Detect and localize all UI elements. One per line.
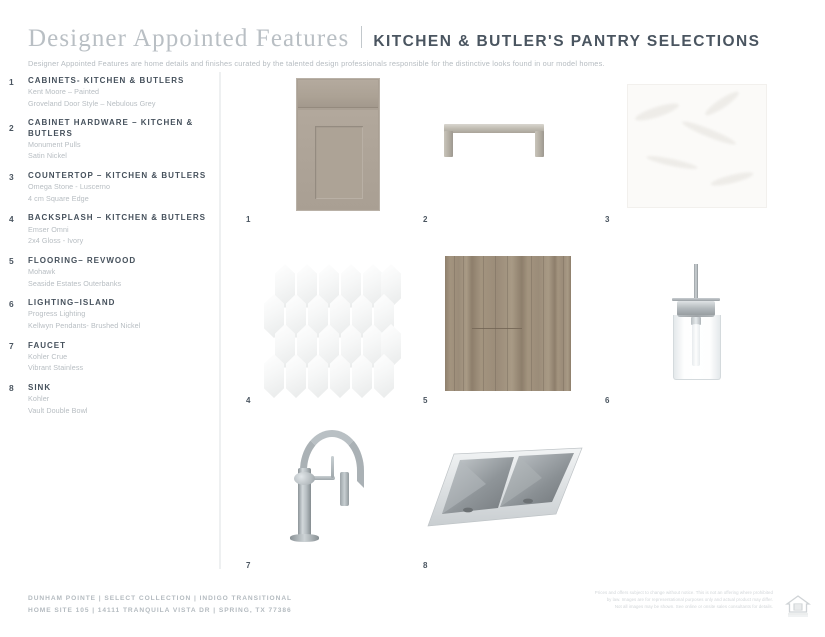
spec-item-countertop[interactable]: 3 COUNTERTOP – KITCHEN & BUTLERS Omega S…: [0, 171, 210, 204]
quartz-vein: [634, 100, 681, 124]
product-cell-2[interactable]: 2: [416, 76, 596, 226]
spec-title: BACKSPLASH – KITCHEN & BUTLERS: [28, 213, 210, 223]
door-drawer-front: [298, 80, 378, 108]
quartz-vein: [710, 170, 755, 188]
product-number-6: 6: [605, 396, 610, 405]
spec-title: COUNTERTOP – KITCHEN & BUTLERS: [28, 171, 210, 181]
wood-grain: [543, 256, 544, 391]
spec-item-backsplash[interactable]: 4 BACKSPLASH – KITCHEN & BUTLERS Emser O…: [0, 213, 210, 246]
spec-detail-line-1: Kent Moore – Painted: [28, 87, 210, 98]
product-number-7: 7: [246, 561, 251, 570]
spec-detail-line-2: Kellwyn Pendants- Brushed Nickel: [28, 321, 210, 332]
spec-title: LIGHTING–ISLAND: [28, 298, 210, 308]
spec-number: 5: [9, 256, 28, 289]
pull-right-post: [535, 131, 544, 157]
spec-title: CABINET HARDWARE – KITCHEN & BUTLERS: [28, 118, 210, 138]
faucet-base-plate: [290, 534, 319, 542]
product-cell-5[interactable]: 5: [416, 256, 596, 411]
wood-grain: [463, 256, 464, 391]
footer-line-1: DUNHAM POINTE | SELECT COLLECTION | INDI…: [28, 593, 292, 605]
spec-number: 4: [9, 213, 28, 246]
spec-detail-line-1: Kohler: [28, 394, 210, 405]
plank-end-seam: [472, 328, 522, 329]
spec-detail-line-1: Emser Omni: [28, 225, 210, 236]
floor-plank: [472, 256, 523, 391]
wood-grain: [507, 256, 508, 391]
countertop-swatch: [627, 84, 767, 208]
spec-detail-line-2: Groveland Door Style – Nebulous Grey: [28, 99, 210, 110]
door-recessed-panel: [315, 126, 363, 199]
cabinet-door-swatch: [296, 78, 380, 211]
spec-number: 7: [9, 341, 28, 374]
spec-detail-line-1: Progress Lighting: [28, 309, 210, 320]
pendant-bulb: [692, 324, 700, 366]
pull-left-post: [444, 131, 453, 157]
spec-number: 3: [9, 171, 28, 204]
pull-grip-bar: [444, 124, 544, 133]
wood-grain: [483, 256, 484, 391]
wood-grain: [495, 256, 496, 391]
quartz-vein: [646, 154, 698, 172]
quartz-vein: [703, 89, 741, 119]
wood-grain: [454, 256, 455, 391]
equal-housing-opportunity-icon: [785, 592, 811, 618]
pendant-light-swatch: [656, 260, 736, 390]
floor-plank: [522, 256, 556, 391]
header-title-row: Designer Appointed Features KITCHEN & BU…: [28, 24, 798, 53]
flooring-swatch: [445, 256, 571, 391]
page-subtitle: Designer Appointed Features are home det…: [28, 59, 798, 68]
spec-detail-line-1: Mohawk: [28, 267, 210, 278]
spec-number: 6: [9, 298, 28, 331]
product-number-5: 5: [423, 396, 428, 405]
product-number-8: 8: [423, 561, 428, 570]
faucet-handle-post: [331, 456, 334, 478]
product-number-1: 1: [246, 215, 251, 224]
product-number-2: 2: [423, 215, 428, 224]
spec-item-sink[interactable]: 8 SINK Kohler Vault Double Bowl: [0, 383, 210, 416]
spec-title: CABINETS- KITCHEN & BUTLERS: [28, 76, 210, 86]
spec-detail-line-2: Seaside Estates Outerbanks: [28, 279, 210, 290]
spec-number: 2: [9, 118, 28, 162]
spec-title: SINK: [28, 383, 210, 393]
spec-item-flooring[interactable]: 5 FLOORING– REVWOOD Mohawk Seaside Estat…: [0, 256, 210, 289]
spec-title: FLOORING– REVWOOD: [28, 256, 210, 266]
product-cell-3[interactable]: 3: [596, 76, 810, 226]
vertical-divider: [219, 72, 221, 569]
faucet-handle-hub: [294, 472, 315, 485]
footer-community-info: DUNHAM POINTE | SELECT COLLECTION | INDI…: [28, 593, 292, 616]
spec-detail-line-2: 4 cm Square Edge: [28, 194, 210, 205]
selection-sheet-page: Designer Appointed Features KITCHEN & BU…: [0, 0, 825, 637]
faucet-swatch: [280, 416, 380, 552]
spec-detail-line-1: Monument Pulls: [28, 140, 210, 151]
spec-title: FAUCET: [28, 341, 210, 351]
sink-swatch: [424, 444, 584, 544]
spec-detail-line-2: Vibrant Stainless: [28, 363, 210, 374]
product-image-grid: 1 2 3: [238, 76, 810, 576]
product-cell-8[interactable]: 8: [416, 416, 596, 576]
spec-detail-line-2: Satin Nickel: [28, 151, 210, 162]
spec-item-cabinets[interactable]: 1 CABINETS- KITCHEN & BUTLERS Kent Moore…: [0, 76, 210, 109]
specification-list: 1 CABINETS- KITCHEN & BUTLERS Kent Moore…: [0, 76, 210, 425]
spec-detail-line-1: Omega Stone - Luscerno: [28, 182, 210, 193]
disclaimer-line-3: Not all images may be shown. See online …: [523, 603, 773, 610]
spec-item-lighting[interactable]: 6 LIGHTING–ISLAND Progress Lighting Kell…: [0, 298, 210, 331]
product-number-4: 4: [246, 396, 251, 405]
spec-detail-line-2: 2x4 Gloss - Ivory: [28, 236, 210, 247]
spec-item-cabinet-hardware[interactable]: 2 CABINET HARDWARE – KITCHEN & BUTLERS M…: [0, 118, 210, 162]
wood-grain: [531, 256, 532, 391]
product-cell-6[interactable]: 6: [596, 256, 810, 411]
spec-detail-line-2: Vault Double Bowl: [28, 406, 210, 417]
footer-line-2: HOME SITE 105 | 14111 TRANQUILA VISTA DR…: [28, 605, 292, 617]
page-header: Designer Appointed Features KITCHEN & BU…: [28, 24, 798, 68]
pendant-stem: [694, 264, 698, 300]
product-cell-1[interactable]: 1: [238, 76, 416, 226]
product-cell-4[interactable]: 4: [238, 256, 416, 411]
title-separator: [361, 26, 362, 48]
cabinet-pull-swatch: [444, 124, 544, 160]
footer-disclaimer: Prices and offers subject to change with…: [523, 589, 773, 610]
spec-number: 1: [9, 76, 28, 109]
product-cell-7[interactable]: 7: [238, 416, 416, 576]
disclaimer-line-1: Prices and offers subject to change with…: [523, 589, 773, 596]
quartz-vein: [681, 118, 738, 147]
spec-number: 8: [9, 383, 28, 416]
spec-item-faucet[interactable]: 7 FAUCET Kohler Crue Vibrant Stainless: [0, 341, 210, 374]
wood-grain: [563, 256, 564, 391]
product-number-3: 3: [605, 215, 610, 224]
door-panel-frame: [298, 110, 378, 209]
disclaimer-line-2: by law. Images are for representational …: [523, 596, 773, 603]
page-title-script: Designer Appointed Features: [28, 25, 349, 53]
sink-illustration: [424, 444, 584, 544]
backsplash-tile-swatch: [256, 264, 401, 392]
floor-plank: [445, 256, 473, 391]
spec-detail-line-1: Kohler Crue: [28, 352, 210, 363]
faucet-sprayhead: [340, 472, 349, 506]
page-title-main: KITCHEN & BUTLER'S PANTRY SELECTIONS: [373, 33, 760, 51]
